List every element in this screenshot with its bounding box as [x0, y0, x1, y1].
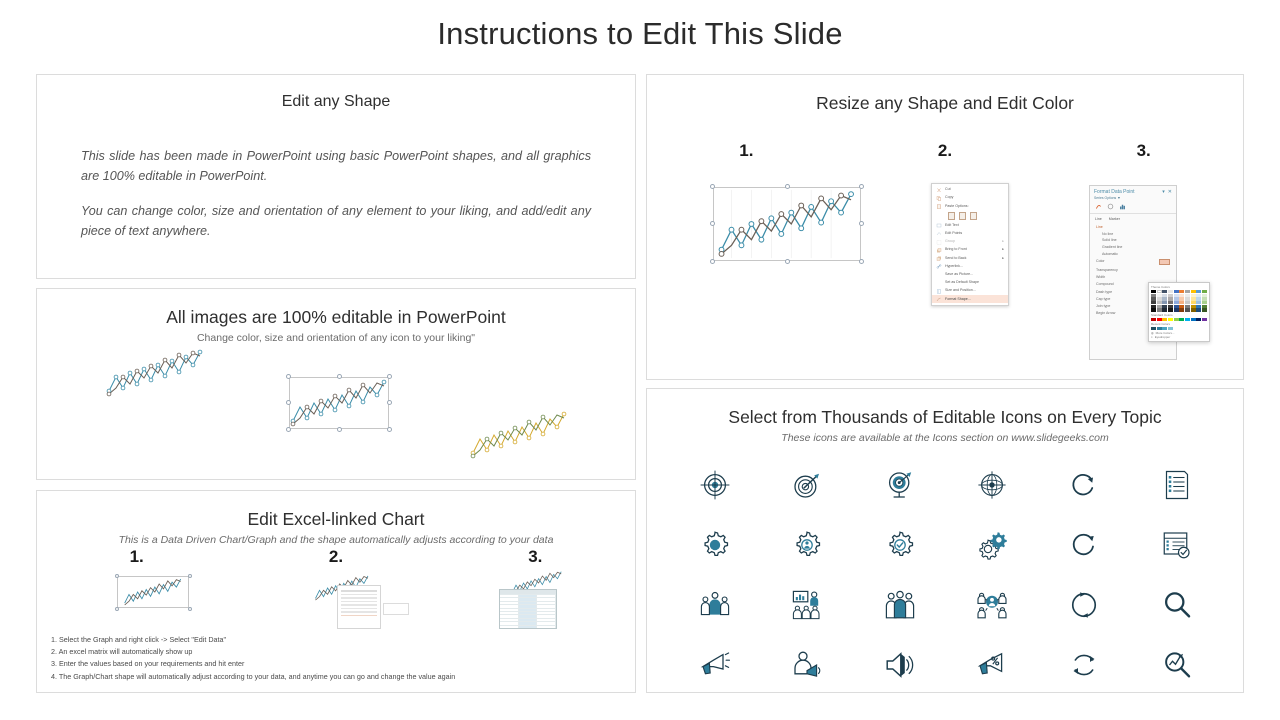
field-label: Color	[1096, 259, 1105, 265]
radio-no-line[interactable]: No line	[1090, 230, 1176, 237]
context-menu-item-paste-options[interactable]: Paste Options:	[932, 202, 1008, 210]
target-stand-icon	[884, 469, 916, 501]
excel-steps-row: 1. 2. 3.	[37, 547, 635, 567]
context-menu-item-save-as-picture[interactable]: Save as Picture...	[932, 271, 1008, 279]
document-list-icon	[1163, 470, 1191, 500]
field-color[interactable]: Color	[1090, 257, 1176, 266]
theme-colors-label: Theme Colors	[1151, 285, 1207, 289]
excel-instructions-list: 1. Select the Graph and right click -> S…	[51, 634, 455, 684]
mini-context-menu[interactable]	[337, 585, 381, 629]
color-picker-popup[interactable]: Theme Colors Standard Colors Recent Colo…	[1148, 282, 1210, 342]
resize-handle-nw[interactable]	[710, 184, 715, 189]
resize-handle-e[interactable]	[859, 221, 864, 226]
excel-step-3: 3.	[436, 547, 635, 567]
standard-colors-label: Standard Colors	[1151, 313, 1207, 317]
tab-line[interactable]: Line	[1095, 217, 1102, 221]
team-group-icon	[699, 589, 731, 621]
resize-handle-s[interactable]	[785, 259, 790, 264]
zigzag-chart-svg	[469, 409, 569, 461]
icon-cell[interactable]	[854, 463, 946, 507]
gear-person-icon	[791, 529, 823, 561]
radio-gradient-line[interactable]: Gradient line	[1090, 244, 1176, 251]
three-people-icon	[884, 589, 916, 621]
panel-subtitle-excel-chart: This is a Data Driven Chart/Graph and th…	[37, 534, 635, 546]
format-pane-icon-row	[1090, 200, 1176, 213]
resize-handle-n[interactable]	[785, 184, 790, 189]
step-number: 2.	[236, 547, 435, 567]
panel-subtitle-images-editable: Change color, size and orientation of an…	[37, 332, 635, 344]
menu-label: Format Shape...	[945, 298, 971, 302]
team-meeting-icon	[976, 589, 1008, 621]
format-pane-title: Format Data Point	[1094, 189, 1135, 195]
excel-step-2: 2.	[236, 547, 435, 567]
icon-grid	[669, 463, 1223, 687]
step-number: 1.	[647, 141, 846, 161]
bring-front-icon	[936, 248, 942, 253]
instruction-line: 4. The Graph/Chart shape will automatica…	[51, 671, 455, 683]
panel-title-edit-shape: Edit any Shape	[37, 93, 635, 111]
icon-cell[interactable]	[946, 643, 1038, 687]
panel-title-excel-chart: Edit Excel-linked Chart	[37, 509, 635, 530]
presentation-audience-icon	[791, 589, 823, 621]
eyedropper-button[interactable]: ⌖ Eyedropper	[1151, 335, 1207, 339]
icon-cell[interactable]	[761, 583, 853, 627]
person-megaphone-icon	[791, 649, 823, 681]
mini-menu-lines	[338, 586, 380, 620]
resize-handle-se[interactable]	[188, 607, 192, 611]
resize-handle-se[interactable]	[859, 259, 864, 264]
edit-shape-paragraph-2: You can change color, size and orientati…	[81, 202, 591, 241]
panel-excel-linked-chart: Edit Excel-linked Chart This is a Data D…	[36, 490, 636, 693]
radar-target-icon	[976, 469, 1008, 501]
radio-label: No line	[1102, 232, 1113, 236]
icon-cell[interactable]	[1131, 643, 1223, 687]
icon-cell[interactable]	[1038, 583, 1130, 627]
copy-icon	[936, 196, 942, 201]
edit-text-icon	[936, 223, 942, 228]
context-menu-item-cut[interactable]: Cut	[932, 186, 1008, 194]
context-menu-item-edit-text[interactable]: Edit Text	[932, 222, 1008, 230]
edit-points-icon	[936, 231, 942, 236]
resize-handle-n[interactable]	[337, 374, 342, 379]
excel-step-1: 1.	[37, 547, 236, 567]
zigzag-graphic-blue[interactable]	[105, 347, 205, 399]
hyperlink-icon	[936, 264, 942, 269]
instruction-line: 3. Enter the values based on your requir…	[51, 658, 455, 670]
radio-label: Solid line	[1102, 238, 1117, 242]
paste-keep-formatting-icon[interactable]	[948, 212, 955, 220]
submenu-arrow-icon: ▸	[1002, 257, 1004, 261]
context-menu-item-bring-to-front[interactable]: Bring to Front ▸	[932, 246, 1008, 254]
series-chart-icon[interactable]	[1119, 203, 1126, 210]
submenu-arrow-icon: ▸	[1002, 240, 1004, 244]
context-menu-item-copy[interactable]: Copy	[932, 194, 1008, 202]
icon-cell[interactable]	[1131, 583, 1223, 627]
icon-cell[interactable]	[854, 523, 946, 567]
paste-picture-icon[interactable]	[959, 212, 966, 220]
field-label: Dash type	[1096, 290, 1112, 294]
effects-icon[interactable]	[1107, 203, 1114, 210]
field-transparency[interactable]: Transparency	[1090, 267, 1176, 274]
target-dart-icon	[791, 469, 823, 501]
field-label: Transparency	[1096, 268, 1118, 272]
excel-thumb-selected-chart[interactable]	[117, 576, 189, 608]
panel-images-editable: All images are 100% editable in PowerPoi…	[36, 288, 636, 480]
zigzag-graphic-gold[interactable]	[469, 409, 569, 461]
eyedropper-label: Eyedropper	[1155, 335, 1171, 339]
gear-filled-icon	[699, 529, 731, 561]
instruction-line: 1. Select the Graph and right click -> S…	[51, 634, 455, 646]
gear-check-icon	[884, 529, 916, 561]
menu-label: Edit Points	[945, 232, 962, 236]
context-menu-item-hyperlink[interactable]: Hyperlink...	[932, 263, 1008, 271]
checklist-document-icon	[1162, 530, 1192, 560]
format-section-line[interactable]: Line	[1090, 223, 1176, 230]
field-label: Cap type	[1096, 297, 1110, 301]
scissors-icon	[936, 188, 942, 193]
icon-cell[interactable]	[669, 643, 761, 687]
resize-handle-ne[interactable]	[859, 184, 864, 189]
menu-label: Group	[945, 240, 955, 244]
format-pane-tabs: Line Marker	[1090, 213, 1176, 223]
sync-arrows-icon	[1069, 590, 1099, 620]
icon-cell[interactable]	[761, 523, 853, 567]
recent-colors-label: Recent Colors	[1151, 322, 1207, 326]
icon-cell[interactable]	[1038, 523, 1130, 567]
group-icon	[936, 240, 942, 245]
field-label: Begin Arrow	[1096, 311, 1115, 315]
close-icon[interactable]: ✕	[1168, 189, 1172, 195]
zigzag-graphic-selected[interactable]	[289, 377, 389, 429]
icon-cell[interactable]	[854, 643, 946, 687]
excel-data-grid[interactable]	[499, 589, 557, 629]
field-label: Width	[1096, 275, 1105, 279]
icon-cell[interactable]	[1038, 643, 1130, 687]
reload-arrow-icon	[1069, 530, 1099, 560]
menu-label: Save as Picture...	[945, 273, 973, 277]
icon-cell[interactable]	[1131, 523, 1223, 567]
magnifier-icon	[1162, 590, 1192, 620]
resize-handle-s[interactable]	[337, 427, 342, 432]
color-swatch-button[interactable]	[1159, 259, 1170, 265]
megaphone-icon	[699, 649, 731, 681]
context-menu-item-group: Group ▸	[932, 238, 1008, 246]
paste-text-only-icon[interactable]	[970, 212, 977, 220]
resize-handle-nw[interactable]	[115, 574, 119, 578]
resize-selected-chart[interactable]	[713, 187, 861, 261]
menu-label: Size and Position...	[945, 289, 976, 293]
instruction-line: 2. An excel matrix will automatically sh…	[51, 646, 455, 658]
section-label: Line	[1096, 225, 1103, 229]
context-menu-item-send-to-back[interactable]: Send to Back ▸	[932, 254, 1008, 262]
menu-label: Bring to Front	[945, 248, 967, 252]
resize-step-2: 2.	[846, 141, 1045, 161]
panel-subtitle-icons: These icons are available at the Icons s…	[647, 432, 1243, 444]
step-number: 3.	[1044, 141, 1243, 161]
paste-icon	[936, 204, 942, 209]
standard-colors-grid[interactable]	[1151, 318, 1207, 321]
selection-frame	[289, 377, 389, 429]
slide-canvas: Instructions to Edit This Slide Edit any…	[0, 0, 1280, 720]
submenu-arrow-icon: ▸	[1002, 248, 1004, 252]
field-width[interactable]: Width	[1090, 274, 1176, 281]
speaker-sound-icon	[884, 649, 916, 681]
page-title: Instructions to Edit This Slide	[0, 16, 1280, 52]
magnifier-chart-icon	[1162, 650, 1192, 680]
theme-colors-grid[interactable]	[1151, 290, 1207, 312]
context-menu-item-edit-points[interactable]: Edit Points	[932, 230, 1008, 238]
icon-cell[interactable]	[669, 583, 761, 627]
icon-cell[interactable]	[946, 523, 1038, 567]
pane-options-icon[interactable]: ▾	[1162, 189, 1165, 195]
panel-title-images-editable: All images are 100% editable in PowerPoi…	[37, 307, 635, 328]
icon-cell[interactable]	[854, 583, 946, 627]
resize-handle-se[interactable]	[387, 427, 392, 432]
context-menu-item-set-default-shape[interactable]: Set as Default Shape	[932, 279, 1008, 287]
icon-cell[interactable]	[946, 463, 1038, 507]
radio-automatic[interactable]: Automatic	[1090, 251, 1176, 258]
icon-cell[interactable]	[1131, 463, 1223, 507]
menu-label: Cut	[945, 188, 951, 192]
format-pane-header: Format Data Point ▾ ✕	[1090, 186, 1176, 196]
icon-cell[interactable]	[669, 523, 761, 567]
selection-frame	[713, 187, 861, 261]
resize-handle-w[interactable]	[710, 221, 715, 226]
circular-arrows-icon	[1069, 650, 1099, 680]
save-picture-icon	[936, 272, 942, 277]
panel-edit-any-shape: Edit any Shape This slide has been made …	[36, 74, 636, 279]
step-number: 3.	[436, 547, 635, 567]
double-gear-icon	[976, 529, 1008, 561]
context-menu-item-size-and-position[interactable]: Size and Position...	[932, 287, 1008, 295]
menu-label: Hyperlink...	[945, 265, 963, 269]
panel-title-resize-shape: Resize any Shape and Edit Color	[647, 93, 1243, 114]
icon-cell[interactable]	[1038, 463, 1130, 507]
target-crosshair-icon	[699, 469, 731, 501]
zigzag-chart-svg	[105, 347, 205, 399]
menu-label: Set as Default Shape	[945, 281, 979, 285]
menu-label: Copy	[945, 196, 953, 200]
resize-step-1: 1.	[647, 141, 846, 161]
edit-shape-paragraph-1: This slide has been made in PowerPoint u…	[81, 147, 591, 186]
resize-handle-ne[interactable]	[387, 374, 392, 379]
panel-title-icons: Select from Thousands of Editable Icons …	[647, 407, 1243, 428]
radio-label: Gradient line	[1102, 245, 1122, 249]
resize-handle-nw[interactable]	[286, 374, 291, 379]
field-label: Compound	[1096, 282, 1114, 286]
send-back-icon	[936, 256, 942, 261]
refresh-arrow-icon	[1069, 470, 1099, 500]
default-shape-icon	[936, 280, 942, 285]
icon-cell[interactable]	[761, 463, 853, 507]
format-shape-icon	[936, 297, 942, 302]
menu-label: Send to Back	[945, 257, 966, 261]
chevron-down-icon[interactable]: ▼	[1117, 196, 1120, 200]
tab-marker[interactable]: Marker	[1109, 217, 1120, 221]
shape-context-menu[interactable]: Cut Copy Paste Options: Edit Text E	[931, 183, 1009, 306]
mini-submenu[interactable]	[383, 603, 409, 615]
series-options-label: Series Options	[1094, 196, 1116, 200]
icon-cell[interactable]	[669, 463, 761, 507]
context-menu-item-format-shape[interactable]: Format Shape...	[932, 295, 1008, 303]
paste-option-buttons[interactable]	[932, 211, 1008, 222]
format-data-point-pane[interactable]: Format Data Point ▾ ✕ Series Options ▼ L…	[1089, 185, 1177, 360]
megaphone-percent-icon	[976, 649, 1008, 681]
eyedropper-icon: ⌖	[1151, 335, 1153, 339]
radio-solid-line[interactable]: Solid line	[1090, 237, 1176, 244]
panel-resize-shape: Resize any Shape and Edit Color 1. 2. 3.	[646, 74, 1244, 380]
resize-steps-row: 1. 2. 3.	[647, 141, 1243, 161]
radio-label: Automatic	[1102, 252, 1118, 256]
resize-handle-e[interactable]	[387, 400, 392, 405]
menu-label: Paste Options:	[945, 205, 969, 209]
size-position-icon	[936, 289, 942, 294]
resize-handle-sw[interactable]	[286, 427, 291, 432]
resize-step-3: 3.	[1044, 141, 1243, 161]
menu-label: Edit Text	[945, 224, 959, 228]
resize-handle-sw[interactable]	[115, 607, 119, 611]
panel-editable-icons: Select from Thousands of Editable Icons …	[646, 388, 1244, 693]
field-label: Join type	[1096, 304, 1110, 308]
fill-line-icon[interactable]	[1095, 203, 1102, 210]
recent-colors-grid[interactable]	[1151, 327, 1207, 330]
selection-frame	[117, 576, 189, 608]
step-number: 2.	[846, 141, 1045, 161]
icon-cell[interactable]	[761, 643, 853, 687]
resize-handle-ne[interactable]	[188, 574, 192, 578]
resize-handle-sw[interactable]	[710, 259, 715, 264]
icon-cell[interactable]	[946, 583, 1038, 627]
resize-handle-w[interactable]	[286, 400, 291, 405]
step-number: 1.	[37, 547, 236, 567]
